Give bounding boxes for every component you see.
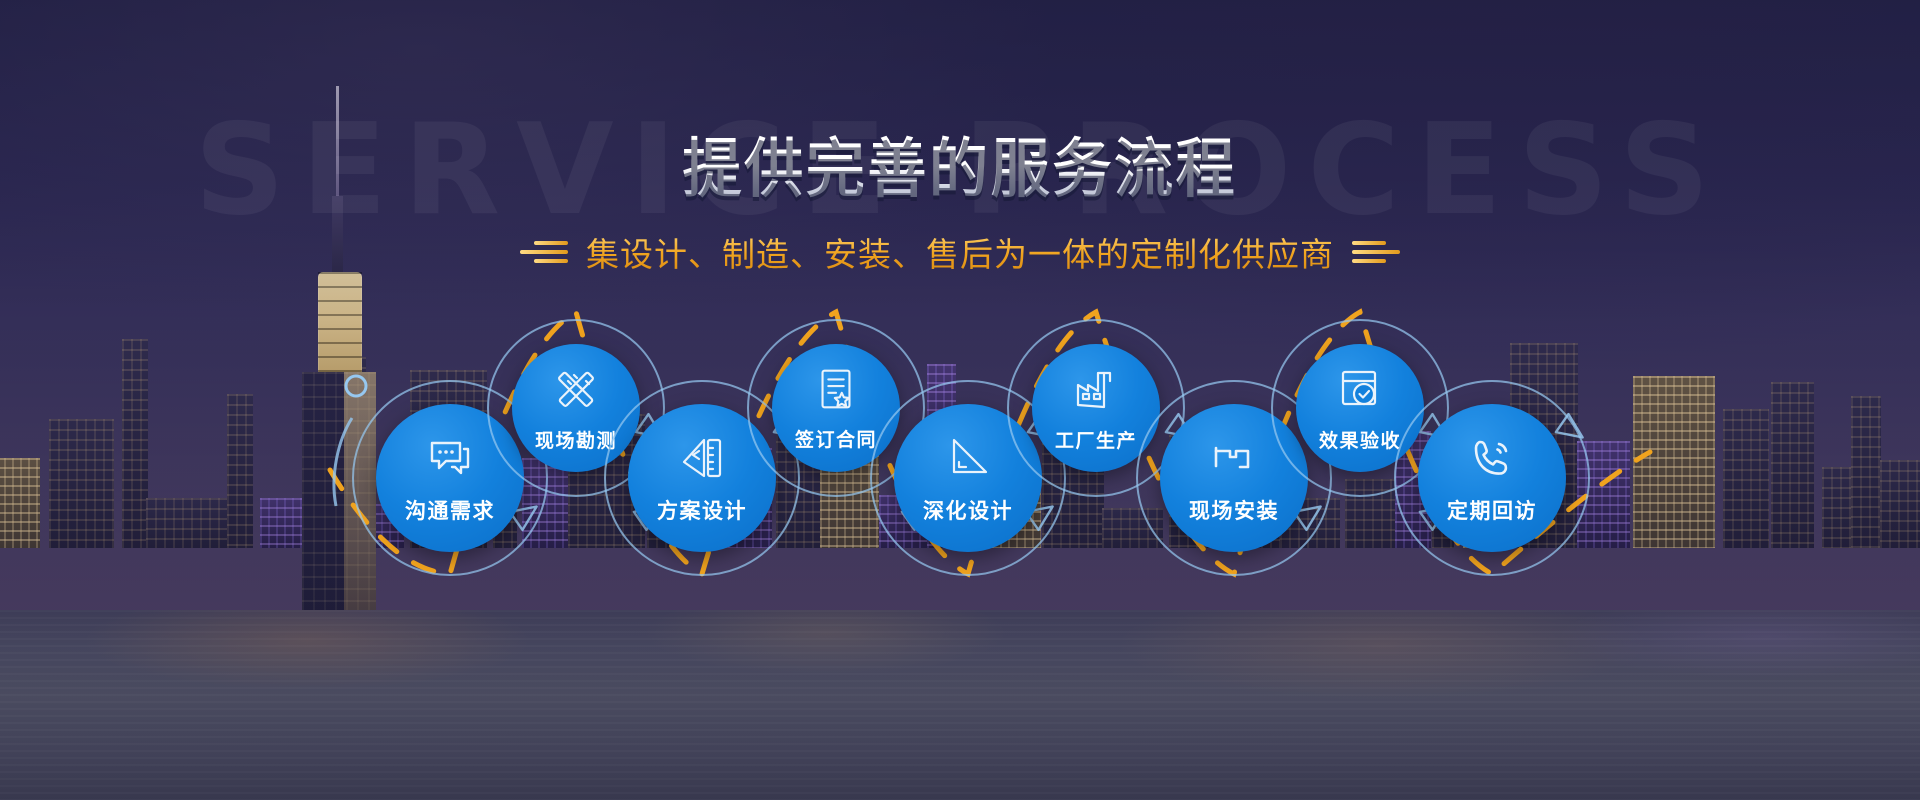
right-decor-lines-icon	[1352, 241, 1400, 263]
step-label: 现场安装	[1189, 495, 1279, 525]
step-label: 深化设计	[923, 495, 1013, 525]
left-decor-lines-icon	[520, 241, 568, 263]
step-label: 沟通需求	[405, 495, 495, 525]
step-disc[interactable]: 定期回访	[1418, 404, 1566, 552]
subtitle-row: 集设计、制造、安装、售后为一体的定制化供应商	[0, 228, 1920, 276]
page-title: 提供完善的服务流程	[77, 118, 1843, 210]
process-flow: 沟通需求 现场勘测 方案设计 签订合同 深化设计 工厂生产 现场安装 效果验收 …	[0, 300, 1920, 660]
chat-bubble-icon	[424, 432, 476, 489]
phone-call-icon	[1466, 432, 1518, 489]
step-label: 签订合同	[795, 425, 877, 452]
ruler-pencil-icon	[550, 363, 602, 420]
step-label: 定期回访	[1447, 495, 1537, 525]
step-label: 现场勘测	[535, 426, 617, 453]
start-tail	[334, 418, 352, 506]
set-square-icon	[942, 432, 994, 489]
power-drill-icon	[1208, 432, 1260, 489]
page-subtitle: 集设计、制造、安装、售后为一体的定制化供应商	[586, 228, 1334, 276]
contract-doc-icon	[811, 364, 861, 419]
step-label: 工厂生产	[1055, 426, 1137, 453]
step-label: 方案设计	[657, 495, 747, 525]
factory-icon	[1070, 363, 1122, 420]
service-process-banner: SERVICE PROCESS 提供完善的服务流程 集设计、制造、安装、售后为一…	[0, 0, 1920, 800]
start-dot-icon	[346, 376, 366, 396]
step-label: 效果验收	[1319, 426, 1401, 453]
window-check-icon	[1334, 363, 1386, 420]
drafting-scale-icon	[676, 432, 728, 489]
